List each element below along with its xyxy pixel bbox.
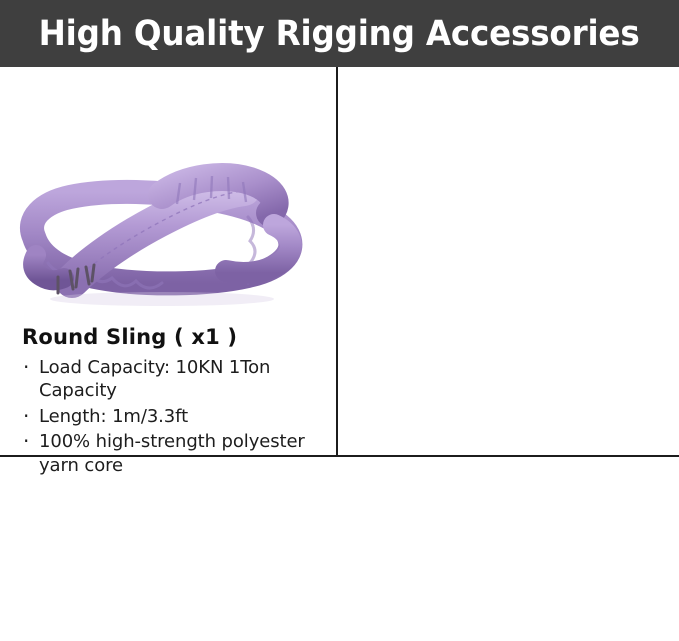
round-sling-text-block: Round Sling ( x1 ) Load Capacity: 10KN 1…: [22, 325, 332, 479]
panel-swivel-connector: PRIOR FITNESS: [338, 67, 679, 455]
sling-right-tail: [226, 225, 291, 273]
list-item: Length: 1m/3.3ft: [22, 405, 332, 428]
sling-shadow: [50, 292, 274, 306]
panel-round-sling: Round Sling ( x1 ) Load Capacity: 10KN 1…: [0, 67, 336, 455]
list-item: Load Capacity: 10KN 1Ton Capacity: [22, 356, 332, 403]
page-title: High Quality Rigging Accessories: [39, 14, 640, 54]
round-sling-image: [12, 159, 324, 314]
round-sling-illustration: [12, 159, 324, 314]
infographic-page: High Quality Rigging Accessories: [0, 0, 679, 641]
header-banner: High Quality Rigging Accessories: [0, 0, 679, 67]
panel-screw-lock-carabiners: PRIOR FITNESS PRIOR FITNESS Screw-lock C…: [0, 457, 679, 641]
round-sling-title: Round Sling ( x1 ): [22, 325, 332, 349]
